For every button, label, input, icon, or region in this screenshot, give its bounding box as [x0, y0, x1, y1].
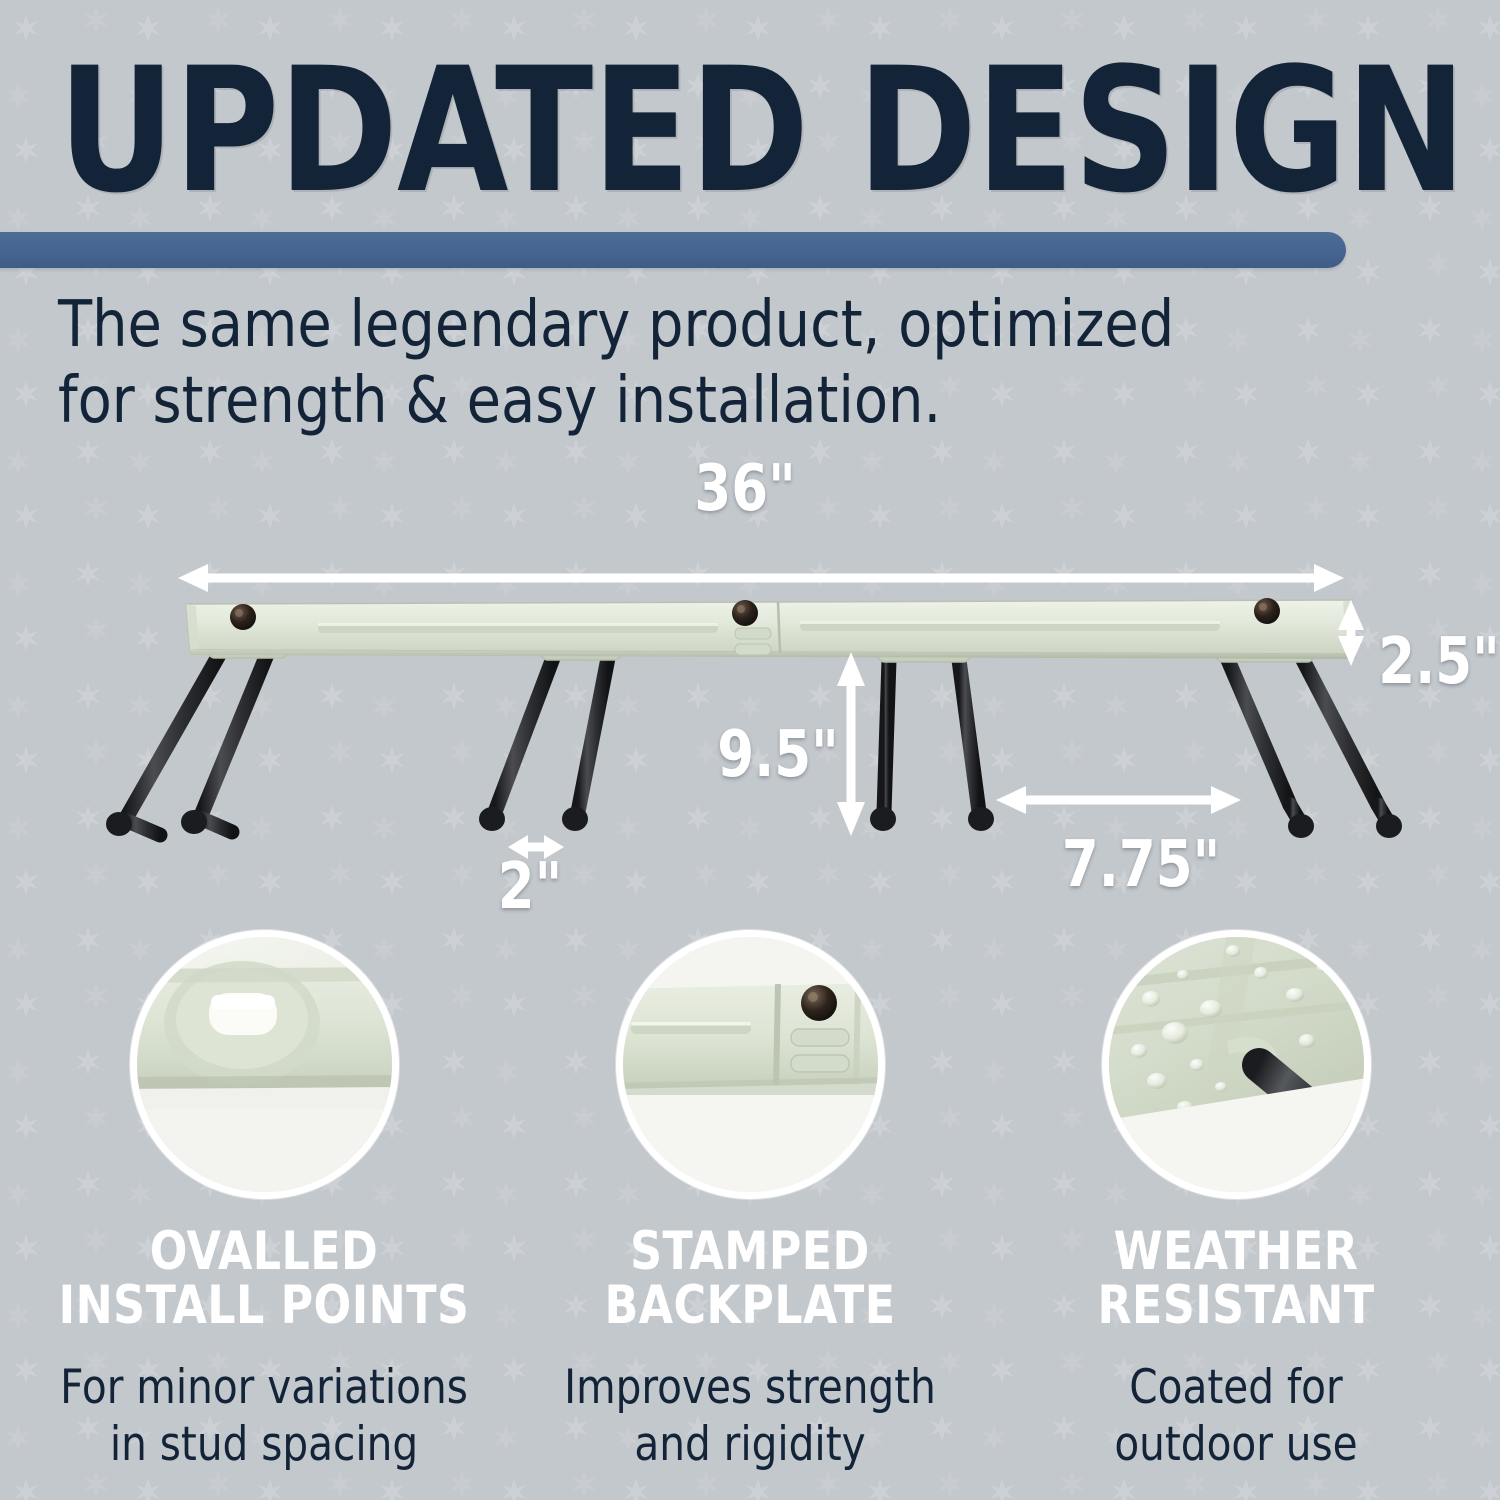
subtitle-line-2: for strength & easy installation. — [58, 364, 1416, 440]
feature-caption: Improves strength and rigidity — [500, 1359, 1000, 1474]
screw-center — [732, 600, 758, 626]
feature-list: OVALLED INSTALL POINTS For minor variati… — [0, 930, 1500, 1500]
screw-left — [230, 604, 256, 630]
product-diagram — [0, 460, 1500, 930]
subtitle-line-1: The same legendary product, optimized — [58, 288, 1416, 364]
product-illustration: 36" 2.5" 9.5" 7.75" 2" — [0, 460, 1500, 930]
feature-heading-line-2: INSTALL POINTS — [32, 1279, 497, 1333]
feature-heading: STAMPED BACKPLATE — [500, 1225, 1000, 1333]
hook-pair-1 — [106, 652, 268, 836]
feature-caption-line-1: For minor variations — [24, 1359, 504, 1416]
feature-caption: For minor variations in stud spacing — [14, 1359, 514, 1474]
dimension-arrow-hook-spacing — [996, 786, 1241, 814]
backplate — [186, 598, 1356, 659]
feature-caption-line-2: in stud spacing — [24, 1416, 504, 1473]
dimension-label-hook-depth: 9.5" — [717, 718, 838, 792]
feature-heading-line-1: WEATHER — [1004, 1225, 1469, 1279]
subtitle: The same legendary product, optimized fo… — [58, 288, 1458, 439]
feature-item-stamped-backplate: STAMPED BACKPLATE Improves strength and … — [500, 930, 1000, 1474]
stamped-backplate-closeup-icon — [616, 930, 885, 1199]
feature-heading: WEATHER RESISTANT — [986, 1225, 1486, 1333]
feature-caption: Coated for outdoor use — [986, 1359, 1486, 1474]
title-divider — [0, 232, 1346, 268]
feature-caption-line-2: and rigidity — [510, 1416, 990, 1473]
feature-caption-line-1: Improves strength — [510, 1359, 990, 1416]
dimension-arrow-width — [178, 564, 1344, 592]
feature-heading-line-2: RESISTANT — [1004, 1279, 1469, 1333]
dimension-label-plate-height: 2.5" — [1378, 625, 1499, 699]
dimension-arrow-hook-depth — [837, 652, 865, 836]
feature-caption-line-1: Coated for — [996, 1359, 1476, 1416]
ovalled-slot-closeup-icon — [130, 930, 399, 1199]
water-droplets-closeup-icon — [1102, 930, 1371, 1199]
screw-right — [1254, 598, 1280, 624]
hook-pair-4 — [1228, 660, 1402, 838]
dimension-label-hook-gap: 2" — [498, 850, 562, 924]
dimension-label-hook-spacing: 7.75" — [1062, 828, 1220, 902]
feature-heading-line-2: BACKPLATE — [518, 1279, 983, 1333]
hook-pair-3 — [870, 660, 994, 831]
feature-item-weather-resistant: WEATHER RESISTANT Coated for outdoor use — [986, 930, 1486, 1474]
feature-heading-line-1: STAMPED — [518, 1225, 983, 1279]
feature-heading: OVALLED INSTALL POINTS — [14, 1225, 514, 1333]
dimension-label-width: 36" — [694, 452, 795, 526]
page-title: UPDATED DESIGN — [58, 48, 1465, 213]
feature-heading-line-1: OVALLED — [32, 1225, 497, 1279]
feature-caption-line-2: outdoor use — [996, 1416, 1476, 1473]
feature-item-ovalled-install-points: OVALLED INSTALL POINTS For minor variati… — [14, 930, 514, 1474]
hook-pair-2 — [479, 658, 608, 831]
